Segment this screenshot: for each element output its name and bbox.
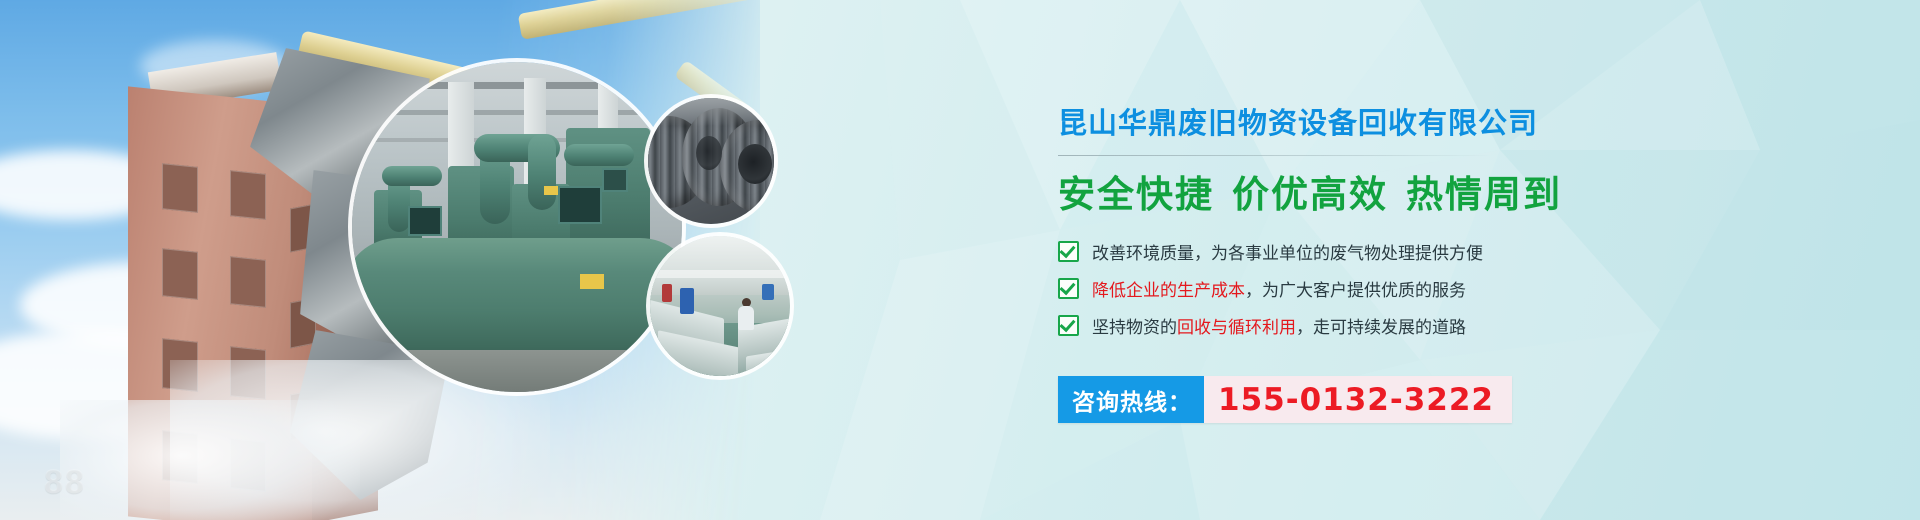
title-divider (1058, 155, 1490, 156)
bullet-lead: 改善环境质量，为各事业单位的废气物处理提供方便 (1092, 244, 1483, 263)
worker-body (738, 306, 754, 330)
company-name: 昆山华鼎废旧物资设备回收有限公司 (1058, 110, 1818, 139)
promo-banner: 88 (0, 0, 1920, 520)
circle-photo-industrial-chiller (352, 62, 682, 392)
hotline-bar[interactable]: 咨询热线： 155-0132-3222 (1058, 376, 1512, 423)
factory-floor (352, 350, 682, 392)
steel-coil-scene (648, 98, 774, 224)
building-window (162, 248, 198, 300)
chiller-factory-scene (352, 62, 682, 392)
bullet-tail: ，走可持续发展的道路 (1296, 318, 1466, 337)
circle-photo-steel-coils (648, 98, 774, 224)
control-panel (602, 168, 628, 192)
bullet-highlight: 降低企业的生产成本 (1092, 281, 1245, 300)
main-slogan: 安全快捷价优高效热情周到 (1058, 176, 1818, 213)
steel-coil-core (696, 136, 722, 170)
ceiling-beam (352, 110, 682, 115)
equipment-box (762, 284, 774, 300)
list-item: 坚持物资的回收与循环利用，走可持续发展的道路 (1058, 313, 1818, 338)
list-item: 改善环境质量，为各事业单位的废气物处理提供方便 (1058, 239, 1818, 264)
checkmark-icon (1058, 315, 1079, 336)
hotline-phone-number[interactable]: 155-0132-3222 (1204, 376, 1512, 423)
banner-content: 昆山华鼎废旧物资设备回收有限公司 安全快捷价优高效热情周到 改善环境质量，为各事… (1058, 110, 1818, 423)
warning-label (580, 274, 604, 289)
slogan-part-3: 热情周到 (1406, 174, 1562, 215)
workshop-scene (650, 236, 790, 376)
warning-label (544, 186, 558, 195)
chiller-pipe (564, 144, 634, 166)
list-item: 降低企业的生产成本，为广大客户提供优质的服务 (1058, 276, 1818, 301)
control-panel (408, 206, 442, 236)
bullet-lead: 坚持物资的 (1092, 318, 1177, 337)
dust-cloud (60, 400, 360, 520)
bullet-tail: ，为广大客户提供优质的服务 (1245, 281, 1466, 300)
equipment-box (662, 284, 672, 302)
building-window (230, 256, 266, 308)
ceiling-light (650, 270, 790, 278)
bullet-text: 坚持物资的回收与循环利用，走可持续发展的道路 (1092, 313, 1466, 338)
checkmark-icon (1058, 241, 1079, 262)
bullet-text: 降低企业的生产成本，为广大客户提供优质的服务 (1092, 276, 1466, 301)
feature-bullet-list: 改善环境质量，为各事业单位的废气物处理提供方便 降低企业的生产成本，为广大客户提… (1058, 239, 1818, 338)
steel-coil-core (738, 144, 772, 184)
bullet-text: 改善环境质量，为各事业单位的废气物处理提供方便 (1092, 239, 1483, 264)
ceiling-beam (352, 82, 682, 89)
slogan-part-1: 安全快捷 (1058, 174, 1214, 215)
control-panel (558, 186, 602, 224)
slogan-part-2: 价优高效 (1232, 174, 1388, 215)
circle-photo-production-line (650, 236, 790, 376)
hotline-label: 咨询热线： (1058, 376, 1204, 423)
building-window (230, 170, 266, 220)
checkmark-icon (1058, 278, 1079, 299)
coil-top-light (648, 98, 774, 126)
chiller-pipe (382, 166, 442, 186)
photo-watermark: 88 (44, 463, 86, 502)
building-window (162, 163, 198, 213)
equipment-box (680, 288, 694, 314)
chiller-pipe (528, 134, 556, 210)
bullet-highlight: 回收与循环利用 (1177, 318, 1296, 337)
